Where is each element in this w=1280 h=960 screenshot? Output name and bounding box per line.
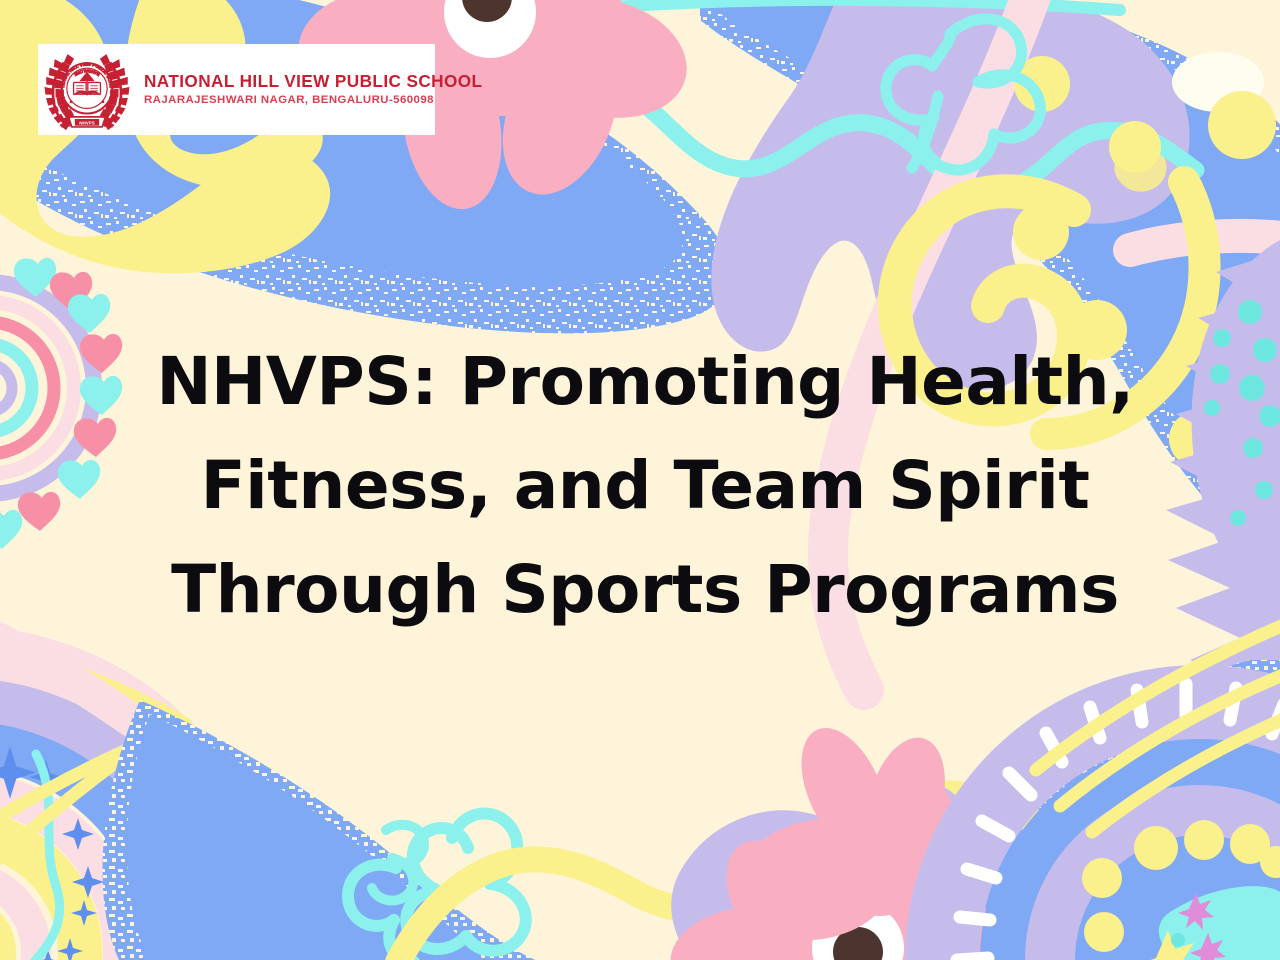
school-crest-emblem: NATIONAL HILL VIEW PUBLIC SCHOOL BANGALO… xyxy=(44,48,130,132)
yellow-dot xyxy=(1208,91,1276,159)
yellow-dot xyxy=(1109,121,1161,173)
school-logo-banner: NATIONAL HILL VIEW PUBLIC SCHOOL BANGALO… xyxy=(38,44,435,135)
school-name: NATIONAL HILL VIEW PUBLIC SCHOOL xyxy=(144,72,482,91)
title-block: NHVPS: Promoting Health, Fitness, and Te… xyxy=(50,330,1240,642)
logo-text-block: NATIONAL HILL VIEW PUBLIC SCHOOL RAJARAJ… xyxy=(144,72,482,107)
svg-text:NHVPS: NHVPS xyxy=(79,120,95,125)
slide-title: NHVPS: Promoting Health, Fitness, and Te… xyxy=(50,330,1240,642)
slide-canvas: NATIONAL HILL VIEW PUBLIC SCHOOL BANGALO… xyxy=(0,0,1280,960)
yellow-dot xyxy=(1013,204,1069,260)
school-address: RAJARAJESHWARI NAGAR, BENGALURU-560098 xyxy=(144,93,482,107)
